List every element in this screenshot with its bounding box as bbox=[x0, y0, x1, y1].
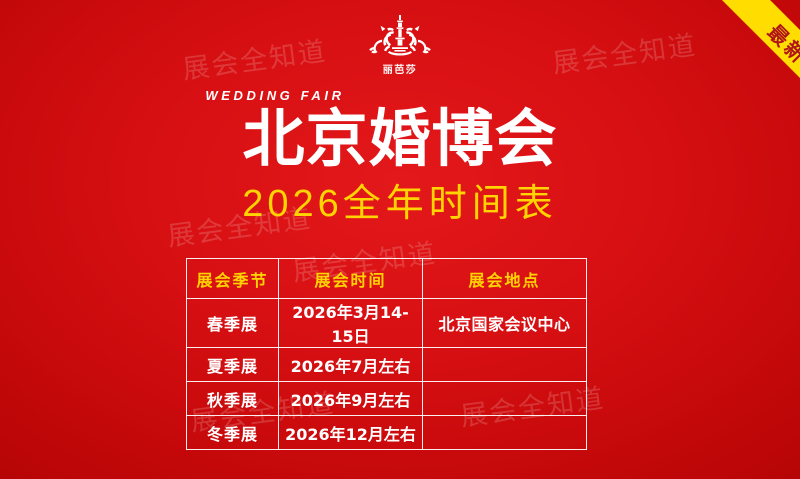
eyebrow-text: WEDDING FAIR bbox=[205, 88, 344, 103]
cell-season: 冬季展 bbox=[187, 416, 279, 450]
brand-name: 丽芭莎 bbox=[383, 61, 418, 76]
subtitle: 2026全年时间表 bbox=[242, 184, 558, 223]
subtitle-text: 全年时间表 bbox=[343, 181, 558, 225]
cell-season: 秋季展 bbox=[187, 382, 279, 416]
schedule-table-body: 春季展 2026年3月14-15日 北京国家会议中心 夏季展 2026年7月左右… bbox=[187, 299, 587, 450]
cell-place bbox=[423, 416, 587, 450]
page-title: 北京婚博会 bbox=[242, 108, 557, 170]
table-row: 冬季展 2026年12月左右 bbox=[187, 416, 587, 450]
column-header-place: 展会地点 bbox=[423, 259, 587, 299]
cell-place bbox=[423, 348, 587, 382]
cell-place bbox=[423, 382, 587, 416]
cell-place: 北京国家会议中心 bbox=[423, 299, 587, 348]
ribbon-label: 最新 bbox=[762, 16, 800, 69]
column-header-time: 展会时间 bbox=[279, 259, 423, 299]
cell-season: 春季展 bbox=[187, 299, 279, 348]
cell-season: 夏季展 bbox=[187, 348, 279, 382]
column-header-season: 展会季节 bbox=[187, 259, 279, 299]
cell-time: 2026年9月左右 bbox=[279, 382, 423, 416]
table-header-row: 展会季节 展会时间 展会地点 bbox=[187, 259, 587, 299]
headline-block: WEDDING FAIR 北京婚博会 2026全年时间表 bbox=[0, 88, 800, 223]
cell-time: 2026年7月左右 bbox=[279, 348, 423, 382]
poster-canvas: 展会全知道 展会全知道 展会全知道 展会全知道 展会全知道 展会全知道 最新 bbox=[0, 0, 800, 479]
table-row: 春季展 2026年3月14-15日 北京国家会议中心 bbox=[187, 299, 587, 348]
subtitle-year: 2026 bbox=[242, 183, 343, 225]
corner-ribbon: 最新 bbox=[688, 0, 800, 112]
table-row: 夏季展 2026年7月左右 bbox=[187, 348, 587, 382]
heraldic-crest-icon bbox=[358, 14, 442, 60]
brand-block: 丽芭莎 bbox=[0, 14, 800, 76]
cell-time: 2026年3月14-15日 bbox=[279, 299, 423, 348]
table-row: 秋季展 2026年9月左右 bbox=[187, 382, 587, 416]
cell-time: 2026年12月左右 bbox=[279, 416, 423, 450]
schedule-table: 展会季节 展会时间 展会地点 春季展 2026年3月14-15日 北京国家会议中… bbox=[186, 258, 587, 450]
ribbon-banner: 最新 bbox=[710, 0, 800, 112]
